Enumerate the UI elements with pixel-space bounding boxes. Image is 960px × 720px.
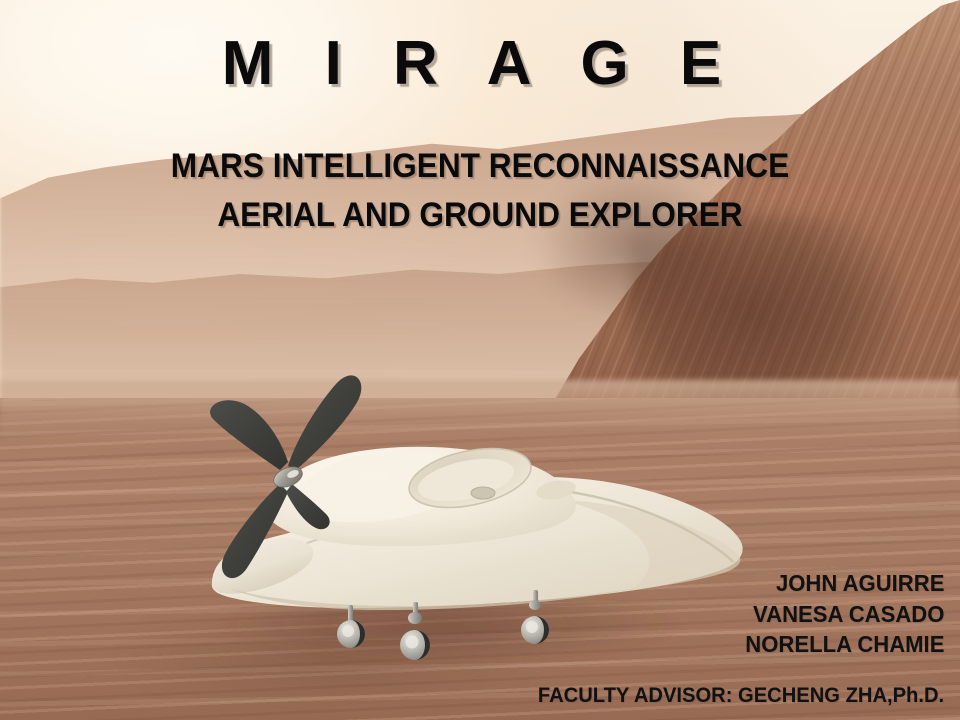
subtitle-line-1: MARS INTELLIGENT RECONNAISSANCE (34, 142, 927, 191)
author-1: JOHN AGUIRRE (745, 568, 944, 599)
author-2: VANESA CASADO (745, 599, 944, 630)
subtitle: MARS INTELLIGENT RECONNAISSANCE AERIAL A… (34, 142, 927, 241)
subtitle-line-2: AERIAL AND GROUND EXPLORER (34, 191, 927, 240)
page-title: M I R A G E (0, 33, 960, 95)
title-slide: M I R A G E MARS INTELLIGENT RECONNAISSA… (0, 0, 960, 720)
faculty-advisor: FACULTY ADVISOR: GECHENG ZHA,Ph.D. (538, 684, 944, 708)
author-list: JOHN AGUIRRE VANESA CASADO NORELLA CHAMI… (745, 568, 944, 660)
propeller-blade-upper-left (210, 400, 288, 470)
author-3: NORELLA CHAMIE (745, 629, 944, 660)
sensor-lens (471, 487, 495, 499)
